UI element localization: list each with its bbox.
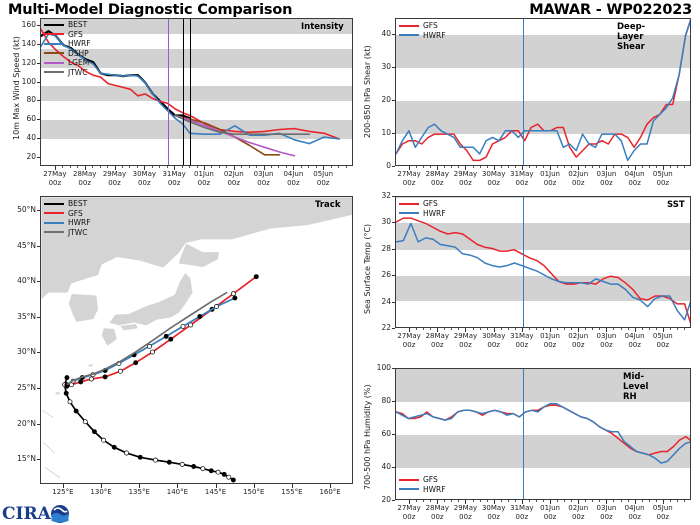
x-tick-mark-minor [473,328,474,330]
x-tick-mark-minor [62,166,63,168]
x-tick-mark-minor [92,166,93,168]
x-tick-mark-minor [677,328,678,330]
map-lat-label: 15°N [4,454,36,463]
x-tick-mark-minor [557,500,558,502]
legend-swatch [399,34,419,36]
map-lon-tick [63,484,64,488]
track-point-marker [169,337,173,341]
y-tick-mark [37,157,40,158]
legend-item: HWRF [399,485,446,495]
track-point-marker [83,420,87,424]
x-tick-mark-minor [592,328,593,330]
y-tick-label: 100 [361,363,391,372]
x-tick-mark-minor [487,328,488,330]
x-tick-mark-minor [444,166,445,168]
legend-swatch [44,24,64,26]
legend-item: GFS [44,30,91,40]
y-tick-mark [37,44,40,45]
x-tick-mark-minor [656,328,657,330]
y-tick-label: 10 [361,128,391,137]
y-tick-mark [37,119,40,120]
y-tick-label: 0 [361,161,391,170]
x-tick-mark-minor [316,166,317,168]
x-tick-mark-minor [286,166,287,168]
y-tick-mark [392,401,395,402]
y-tick-mark [392,368,395,369]
legend-swatch [399,488,419,490]
legend-swatch [44,62,64,64]
coastline-polygon [178,243,219,267]
track-line [67,277,256,387]
map-lon-label: 145°E [196,488,236,497]
map-lat-label: 40°N [4,276,36,285]
x-tick-mark-minor [70,166,71,168]
track-point-marker [227,475,231,479]
track-point-marker [124,451,128,455]
track-legend: BESTGFSHWRFJTWC [44,199,91,237]
legend-label: GFS [423,21,438,30]
track-point-marker [214,304,218,308]
y-tick-label: 28 [361,244,391,253]
y-tick-mark [392,100,395,101]
x-tick-mark-minor [515,166,516,168]
map-lat-label: 20°N [4,419,36,428]
shear-plot-area [395,18,691,166]
legend-item: GFS [399,199,446,209]
legend-label: HWRF [423,485,446,494]
data-series-line [396,19,690,160]
y-tick-mark [392,34,395,35]
track-point-marker [164,334,168,338]
x-tick-mark-minor [501,500,502,502]
map-lat-label: 50°N [4,205,36,214]
y-tick-label: 80 [6,95,36,104]
x-tick-mark-minor [430,500,431,502]
coastline-polygon [109,272,193,325]
x-tick-mark-minor [656,500,657,502]
x-tick-label: 05Jun00z [643,504,683,522]
legend-item: JTWC [44,228,91,238]
x-tick-mark-minor [301,166,302,168]
x-tick-mark-minor [480,166,481,168]
track-point-marker [79,380,83,384]
x-tick-mark-minor [628,328,629,330]
x-tick-mark-minor [621,328,622,330]
x-tick-mark-minor [159,166,160,168]
x-tick-label: 05Jun00z [643,332,683,350]
x-tick-mark-minor [430,166,431,168]
y-tick-label: 80 [361,396,391,405]
x-tick-mark-minor [480,500,481,502]
map-lon-label: 150°E [234,488,274,497]
x-tick-mark-minor [152,166,153,168]
sst-corner-label: SST [667,200,685,210]
x-tick-mark-minor [271,166,272,168]
map-lon-label: 135°E [119,488,159,497]
forecast-init-vline [190,19,191,165]
x-tick-mark-minor [592,500,593,502]
map-lon-label: 130°E [81,488,121,497]
x-tick-mark-minor [529,166,530,168]
map-lon-tick [292,484,293,488]
map-lon-label: 155°E [272,488,312,497]
y-tick-mark [392,133,395,134]
y-tick-mark [392,302,395,303]
intensity-ylabel: 10m Max Wind Speed (kt) [12,36,21,140]
x-tick-mark-minor [508,166,509,168]
legend-swatch [44,71,64,73]
analysis-time-vline [523,19,524,165]
x-tick-mark-minor [226,166,227,168]
shear-ylabel: 200-850 hPa Shear (kt) [363,45,372,138]
legend-item: HWRF [399,31,446,41]
x-tick-mark-minor [473,166,474,168]
y-tick-mark [392,196,395,197]
x-tick-mark-minor [423,328,424,330]
legend-label: DSHP [68,49,89,58]
x-tick-mark-minor [564,328,565,330]
y-tick-label: 40 [361,29,391,38]
x-tick-mark-minor [241,166,242,168]
map-lat-tick [37,388,40,389]
legend-swatch [44,212,64,214]
y-tick-label: 30 [361,217,391,226]
x-tick-mark-minor [613,500,614,502]
map-lon-tick [177,484,178,488]
x-tick-mark-minor [219,166,220,168]
y-tick-label: 22 [361,323,391,332]
legend-swatch [44,231,64,233]
y-tick-mark [37,63,40,64]
x-tick-mark-minor [515,500,516,502]
x-tick-mark-minor [628,166,629,168]
x-tick-mark-minor [684,328,685,330]
map-lon-label: 160°E [310,488,350,497]
x-tick-mark-minor [501,166,502,168]
x-tick-mark-minor [649,166,650,168]
map-lat-tick [37,424,40,425]
x-tick-mark-minor [487,500,488,502]
island-shape [55,392,60,395]
map-lat-tick [37,210,40,211]
x-tick-mark-minor [508,500,509,502]
x-tick-mark-minor [684,166,685,168]
track-point-marker [138,455,142,459]
x-tick-mark-minor [529,328,530,330]
x-tick-mark-minor [599,500,600,502]
x-tick-mark-minor [451,500,452,502]
intensity-legend: BESTGFSHWRFDSHPLGEMJTWC [44,20,91,77]
x-tick-label: 05Jun00z [643,170,683,188]
x-tick-mark-minor [621,500,622,502]
legend-label: GFS [68,30,83,39]
track-point-marker [198,314,202,318]
x-tick-mark-minor [649,328,650,330]
page-title: Multi-Model Diagnostic Comparison [8,2,292,18]
y-tick-label: 120 [6,58,36,67]
x-tick-mark-minor [543,166,544,168]
y-tick-mark [392,467,395,468]
track-point-marker [231,292,235,296]
y-tick-mark [392,166,395,167]
track-point-marker [92,430,96,434]
x-tick-mark-minor [649,500,650,502]
x-tick-mark-minor [557,328,558,330]
legend-swatch [399,479,419,481]
y-tick-mark [392,328,395,329]
legend-label: HWRF [68,218,91,227]
legend-item: GFS [399,475,446,485]
legend-item: BEST [44,199,91,209]
cira-logo: CIRA [2,502,74,524]
x-tick-mark-minor [458,166,459,168]
x-tick-mark-minor [536,500,537,502]
x-tick-mark-minor [515,328,516,330]
x-tick-mark-minor [430,328,431,330]
legend-label: BEST [68,20,87,29]
x-tick-label: 05Jun00z [303,170,343,188]
x-tick-mark-minor [543,500,544,502]
forecast-init-vline [168,19,169,165]
track-point-marker [233,296,237,300]
track-point-marker [103,375,107,379]
map-lat-label: 35°N [4,312,36,321]
y-tick-label: 60 [361,429,391,438]
legend-label: BEST [68,199,87,208]
x-tick-mark-minor [249,166,250,168]
map-lon-tick [139,484,140,488]
legend-item: GFS [44,209,91,219]
x-tick-mark-minor [77,166,78,168]
x-tick-mark-minor [122,166,123,168]
legend-label: GFS [423,475,438,484]
legend-label: HWRF [68,39,91,48]
x-tick-mark-minor [473,500,474,502]
track-point-marker [134,361,138,365]
sst-legend: GFSHWRF [399,199,446,218]
track-corner-label: Track [315,200,340,210]
x-tick-mark-minor [308,166,309,168]
x-tick-mark-minor [211,166,212,168]
faint-island-lines [43,410,61,478]
y-tick-mark [392,67,395,68]
y-tick-mark [37,25,40,26]
legend-item: LGEM [44,58,91,68]
map-lat-tick [37,352,40,353]
data-series-line [175,116,294,156]
x-tick-mark-minor [423,166,424,168]
x-tick-mark-minor [487,166,488,168]
y-tick-label: 40 [6,133,36,142]
x-tick-mark-minor [444,500,445,502]
x-tick-mark-minor [571,166,572,168]
analysis-time-vline [523,197,524,327]
map-layer [41,197,353,484]
x-tick-mark-minor [137,166,138,168]
x-tick-mark-minor [508,328,509,330]
y-tick-mark [392,249,395,250]
legend-swatch [399,25,419,27]
x-tick-mark-minor [543,328,544,330]
x-tick-mark-minor [613,328,614,330]
y-tick-label: 20 [361,95,391,104]
track-point-marker [150,350,154,354]
x-tick-mark-minor [642,500,643,502]
x-tick-mark-minor [480,328,481,330]
x-tick-mark-minor [338,166,339,168]
map-lon-label: 125°E [43,488,83,497]
legend-item: GFS [399,21,446,31]
x-tick-mark-minor [621,166,622,168]
data-series-line [396,405,690,455]
x-tick-mark-minor [564,500,565,502]
map-lon-label: 140°E [157,488,197,497]
y-tick-mark [392,222,395,223]
shear-corner-label: Deep-Layer Shear [617,22,645,52]
track-point-marker [181,324,185,328]
x-tick-mark-minor [423,500,424,502]
y-tick-label: 60 [6,114,36,123]
track-point-marker [216,470,220,474]
track-line [65,378,234,480]
x-tick-mark-minor [536,166,537,168]
legend-swatch [44,33,64,35]
x-tick-mark-minor [458,500,459,502]
island-shape [88,364,93,367]
x-tick-mark-minor [416,500,417,502]
legend-swatch [44,203,64,205]
y-tick-label: 20 [361,495,391,504]
rh-corner-label: Mid-Level RH [623,372,648,402]
y-tick-label: 40 [361,462,391,471]
y-tick-mark [392,500,395,501]
y-tick-mark [37,100,40,101]
legend-swatch [44,43,64,45]
legend-swatch [399,212,419,214]
y-tick-mark [37,82,40,83]
legend-item: BEST [44,20,91,30]
legend-label: HWRF [423,31,446,40]
x-tick-mark-minor [677,166,678,168]
coastline-polygon [69,294,99,323]
y-tick-mark [37,138,40,139]
track-point-marker [89,377,93,381]
map-lon-tick [216,484,217,488]
x-tick-mark-minor [100,166,101,168]
y-tick-label: 24 [361,297,391,306]
x-tick-mark-minor [451,166,452,168]
cira-logo-text: CIRA [2,504,52,524]
x-tick-mark-minor [642,328,643,330]
data-series-line [396,218,690,327]
x-tick-mark-minor [182,166,183,168]
track-point-marker [102,438,106,442]
x-tick-mark-minor [670,500,671,502]
x-tick-mark-minor [458,328,459,330]
x-tick-mark-minor [346,166,347,168]
x-tick-mark-minor [677,500,678,502]
x-tick-mark-minor [529,500,530,502]
track-point-marker [64,391,68,395]
map-lat-label: 30°N [4,347,36,356]
legend-swatch [399,203,419,205]
track-point-marker [231,478,235,482]
y-tick-label: 160 [6,20,36,29]
legend-label: GFS [68,209,83,218]
map-lon-tick [254,484,255,488]
legend-label: GFS [423,199,438,208]
x-tick-mark-minor [599,328,600,330]
legend-label: JTWC [68,228,87,237]
x-tick-mark-minor [585,166,586,168]
x-tick-mark-minor [536,328,537,330]
legend-label: LGEM [68,58,89,67]
track-point-marker [201,467,205,471]
track-point-marker [68,400,72,404]
map-lon-tick [101,484,102,488]
storm-id-title: MAWAR - WP022023 [529,2,692,18]
y-tick-label: 30 [361,62,391,71]
map-lon-tick [330,484,331,488]
map-lat-tick [37,281,40,282]
x-tick-mark-minor [416,166,417,168]
map-lat-label: 45°N [4,241,36,250]
legend-label: HWRF [423,209,446,218]
legend-swatch [44,222,64,224]
x-tick-mark-minor [613,166,614,168]
track-point-marker [209,469,213,473]
x-tick-mark-minor [189,166,190,168]
x-tick-mark-minor [656,166,657,168]
x-tick-mark-minor [585,328,586,330]
x-tick-mark-minor [167,166,168,168]
analysis-time-vline [523,369,524,499]
x-tick-mark-minor [571,500,572,502]
x-tick-mark-minor [107,166,108,168]
x-tick-mark-minor [501,328,502,330]
map-lat-tick [37,459,40,460]
rh-legend: GFSHWRF [399,475,446,494]
track-point-marker [153,458,157,462]
x-tick-mark-minor [557,166,558,168]
track-point-marker [222,472,226,476]
y-tick-label: 140 [6,39,36,48]
x-tick-mark-minor [256,166,257,168]
x-tick-mark-minor [564,166,565,168]
x-tick-mark-minor [129,166,130,168]
x-tick-mark-minor [451,328,452,330]
x-tick-mark-minor [642,166,643,168]
track-point-marker [65,376,69,380]
coastline-polygon [101,328,117,347]
x-tick-mark-minor [444,328,445,330]
y-tick-label: 20 [6,152,36,161]
track-point-marker [147,344,151,348]
x-tick-mark-minor [670,166,671,168]
legend-item: HWRF [44,218,91,228]
track-point-marker [254,275,258,279]
track-point-marker [112,445,116,449]
track-map-area[interactable] [40,196,353,484]
y-tick-label: 100 [6,77,36,86]
x-tick-mark-minor [670,328,671,330]
data-series-line [396,223,690,327]
x-tick-mark-minor [416,328,417,330]
intensity-corner-label: Intensity [301,22,344,32]
x-tick-mark-minor [571,328,572,330]
data-series-line [396,404,690,463]
legend-item: HWRF [399,209,446,219]
